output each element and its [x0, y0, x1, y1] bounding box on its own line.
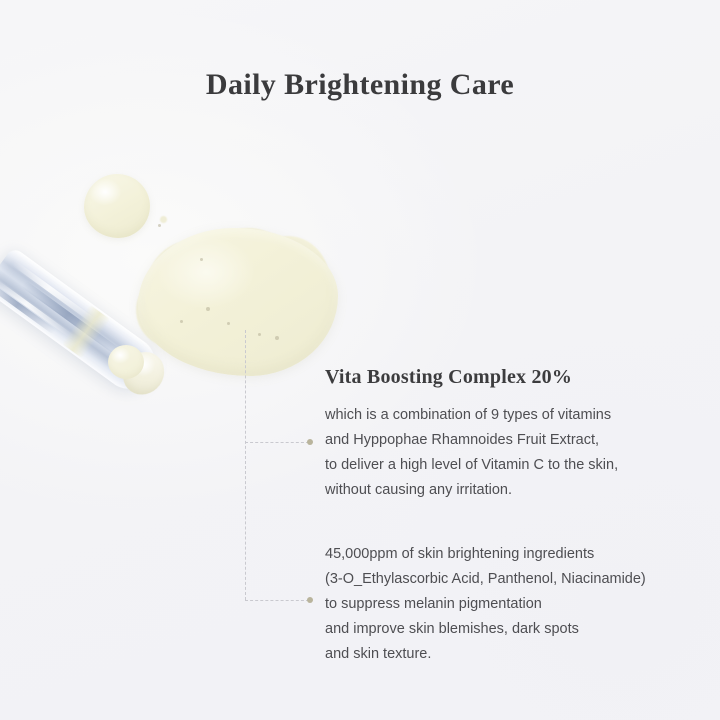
page-title: Daily Brightening Care	[0, 68, 720, 102]
serum-speck	[200, 258, 203, 261]
serum-speck	[180, 320, 183, 323]
cream-serum-blob	[138, 228, 338, 376]
callout-2-line: and skin texture.	[325, 642, 646, 667]
callout-2-line: (3-O_Ethylascorbic Acid, Panthenol, Niac…	[325, 567, 646, 592]
callout-1-line: to deliver a high level of Vitamin C to …	[325, 453, 618, 478]
connector-line-horizontal-1	[245, 442, 309, 443]
callout-2-line: and improve skin blemishes, dark spots	[325, 617, 646, 642]
serum-speck	[206, 307, 210, 311]
serum-speck	[258, 333, 261, 336]
serum-droplet-small	[108, 345, 144, 379]
callout-2-line: 45,000ppm of skin brightening ingredient…	[325, 542, 646, 567]
serum-speck	[158, 224, 161, 227]
callout-2-line: to suppress melanin pigmentation	[325, 592, 646, 617]
serum-speck	[227, 322, 230, 325]
serum-speck	[275, 336, 279, 340]
connector-line-horizontal-2	[245, 600, 309, 601]
serum-droplet	[84, 174, 150, 238]
callout-block-2: 45,000ppm of skin brightening ingredient…	[325, 542, 646, 667]
callout-1-line: without causing any irritation.	[325, 478, 618, 503]
callout-1-line: and Hyppophae Rhamnoides Fruit Extract,	[325, 428, 618, 453]
connector-dot-1	[307, 439, 313, 445]
serum-droplet-mini	[160, 216, 167, 223]
connector-dot-2	[307, 597, 313, 603]
callout-block-1: Vita Boosting Complex 20% which is a com…	[325, 366, 618, 503]
connector-line-vertical	[245, 330, 246, 600]
product-infographic: Daily Brightening Care Vita Boosting Com…	[0, 0, 720, 720]
callout-1-line: which is a combination of 9 types of vit…	[325, 403, 618, 428]
callout-1-heading: Vita Boosting Complex 20%	[325, 366, 618, 389]
